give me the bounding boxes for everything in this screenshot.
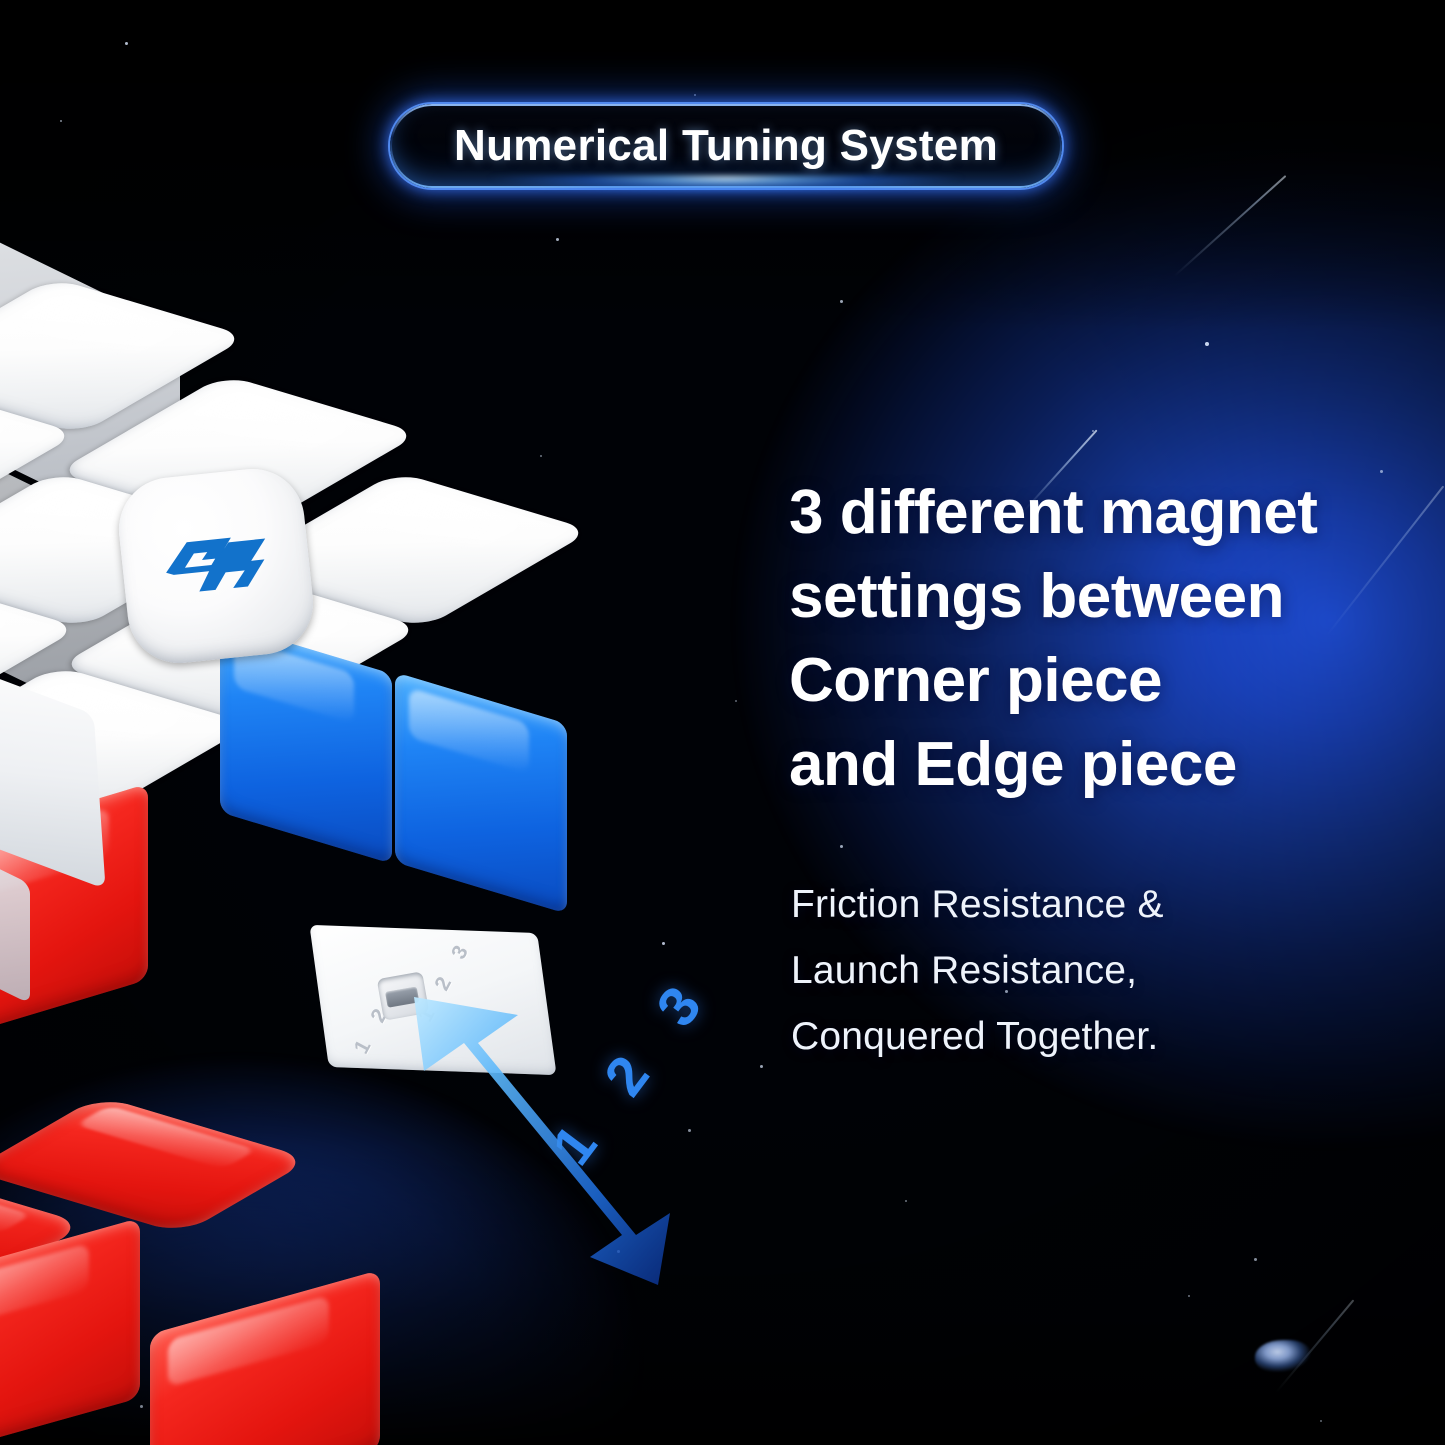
pointer-arrow-icon: [400, 985, 700, 1285]
badge-label: Numerical Tuning System: [454, 121, 998, 171]
subtext-line-2: Launch Resistance,: [791, 938, 1351, 1004]
gan-logo-cap: [114, 464, 318, 668]
promo-banner: Numerical Tuning System: [0, 0, 1445, 1445]
headline-line-2: settings between: [789, 555, 1409, 639]
badge-underglow: [444, 176, 1008, 192]
cube-tile-right-2: [395, 672, 567, 914]
headline-line-4: and Edge piece: [789, 723, 1409, 807]
headline-line-1: 3 different magnet: [789, 471, 1409, 555]
cube-tile-bottom-3: [0, 1218, 140, 1445]
cube-tile-bottom-5: [150, 1270, 380, 1445]
subtext: Friction Resistance & Launch Resistance,…: [791, 872, 1351, 1070]
subtext-line-3: Conquered Together.: [791, 1004, 1351, 1070]
title-badge: Numerical Tuning System: [390, 104, 1062, 188]
headline: 3 different magnet settings between Corn…: [789, 471, 1409, 807]
subtext-line-1: Friction Resistance &: [791, 872, 1351, 938]
headline-line-3: Corner piece: [789, 639, 1409, 723]
gan-logo-icon: [152, 523, 279, 609]
